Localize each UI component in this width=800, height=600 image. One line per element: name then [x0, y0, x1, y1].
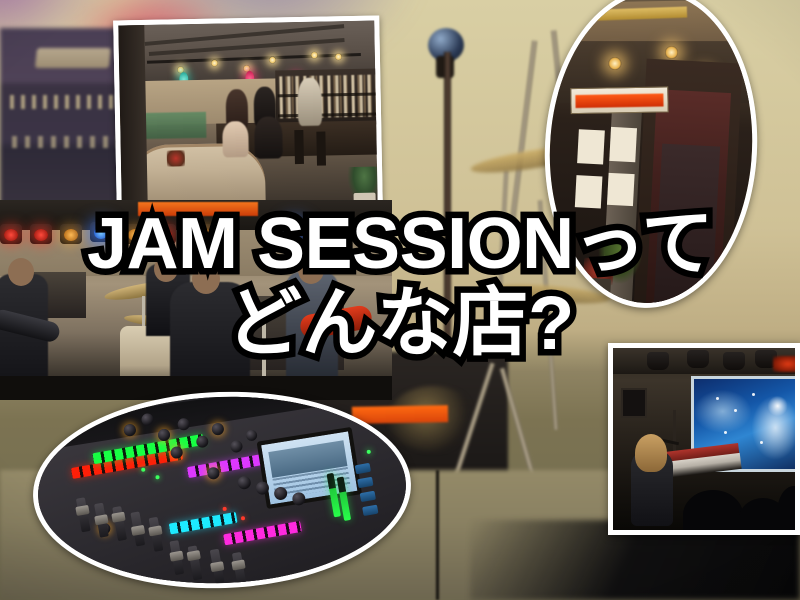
band-drummer-head	[154, 256, 178, 282]
bar-customer-3	[254, 116, 283, 159]
keyboard-player-hair	[635, 434, 667, 472]
screen-sparkle-2	[734, 409, 737, 412]
stage-par-light-1	[0, 224, 22, 244]
mixer-status-led-red-2	[241, 516, 245, 520]
entrance-poster-4	[607, 173, 635, 206]
band-singer-head	[192, 264, 220, 294]
stage-red-logo	[773, 356, 795, 372]
screen-sparkle-3	[752, 393, 755, 396]
stage-par-light-3	[60, 224, 82, 244]
stage-par-light-8	[284, 220, 306, 240]
band-jam-session-banner	[138, 202, 258, 216]
bar-stool-2	[316, 132, 326, 166]
stage-wall-frame	[621, 388, 647, 418]
stage-par-light-2	[30, 224, 52, 244]
entrance-door	[654, 144, 721, 308]
screen-sparkle-1	[716, 397, 719, 400]
screen-sparkle-5	[760, 441, 763, 444]
entrance-poster-3	[575, 175, 603, 208]
stage-lamp-2	[687, 350, 709, 368]
bar-stool-1	[294, 130, 304, 164]
bar-flower-vase	[167, 150, 185, 166]
bar-pendant-bulb-2	[211, 60, 218, 67]
entrance-pot-base	[588, 278, 611, 297]
stage-lamp-3	[723, 352, 745, 370]
photo-bar-interior	[113, 15, 383, 212]
stage-lamp-1	[647, 352, 669, 370]
stage-par-light-7	[194, 224, 216, 244]
bar-customer-4	[222, 121, 249, 157]
thumbnail-canvas: JAM SESSIONって どんな店?	[0, 0, 800, 600]
bar-green-panel	[136, 112, 206, 139]
band-guitarist-left-head	[8, 258, 34, 286]
bar-left-column	[118, 25, 148, 207]
entrance-jam-session-signboard	[570, 86, 668, 114]
entrance-poster-2	[609, 127, 637, 162]
photo-live-band	[0, 200, 392, 400]
stage-par-light-4	[90, 222, 112, 242]
bar-pendant-bulb-6	[335, 53, 342, 60]
photo-mixing-console	[30, 385, 415, 594]
entrance-sign-red-text	[575, 94, 663, 109]
stage-par-light-5	[124, 224, 146, 244]
photo-keyboard-stage	[608, 343, 800, 535]
band-bassist-head	[298, 256, 324, 284]
screen-sparkle-4	[724, 431, 727, 434]
photo-shop-entrance	[537, 0, 765, 313]
entrance-poster-1	[577, 129, 605, 164]
bar-staff	[297, 78, 322, 126]
bar-pendant-bulb-4	[269, 56, 276, 63]
stage-par-light-6	[154, 224, 176, 244]
